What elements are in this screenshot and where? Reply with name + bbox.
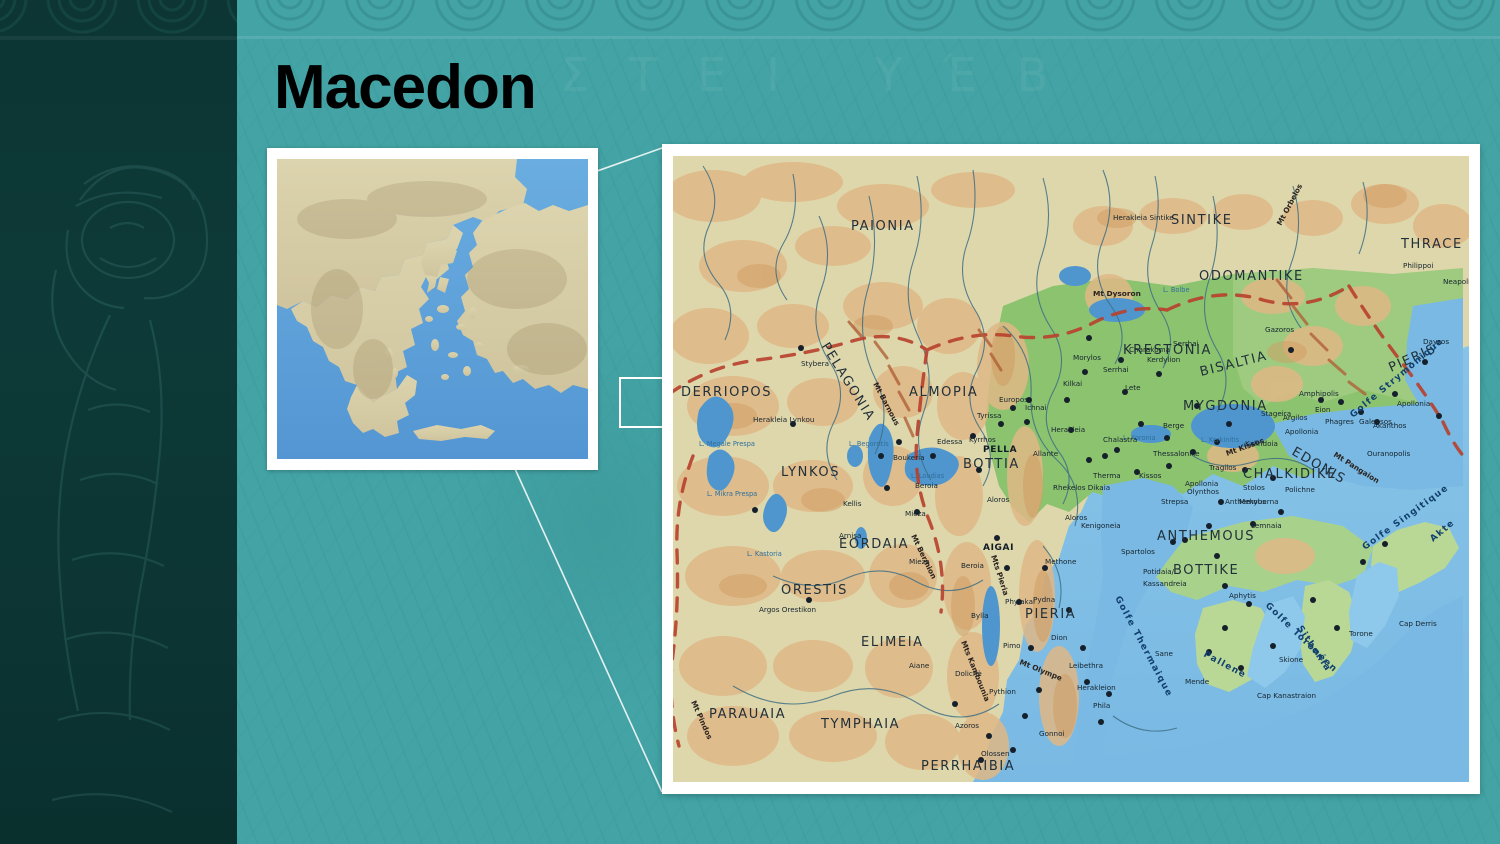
sidebar-divider-rule — [0, 36, 237, 40]
svg-text:Kalindoia: Kalindoia — [1245, 439, 1278, 448]
svg-text:Phila: Phila — [1093, 701, 1110, 710]
svg-text:Morylos: Morylos — [1073, 353, 1101, 362]
svg-text:MYGDONIA: MYGDONIA — [1183, 399, 1268, 414]
svg-text:Bylla: Bylla — [971, 611, 989, 620]
svg-text:Beroia: Beroia — [961, 561, 984, 570]
svg-text:Kilkai: Kilkai — [1063, 379, 1082, 388]
slide-canvas: ΣΤΕΙ ΥΈΒ — [0, 0, 1500, 844]
svg-text:Berge: Berge — [1163, 421, 1185, 430]
svg-text:Methone: Methone — [1045, 557, 1077, 566]
svg-text:Kenigoneia: Kenigoneia — [1081, 521, 1121, 530]
svg-text:L. Bolbe: L. Bolbe — [1163, 286, 1190, 294]
svg-text:Serrhai: Serrhai — [1103, 365, 1129, 374]
svg-text:TYMPHAIA: TYMPHAIA — [820, 717, 900, 732]
svg-text:L. Mikra Prespa: L. Mikra Prespa — [707, 490, 757, 498]
svg-text:PAIONIA: PAIONIA — [851, 219, 915, 234]
svg-text:Kerdylion: Kerdylion — [1147, 355, 1180, 364]
svg-text:Argilos: Argilos — [1283, 413, 1308, 422]
svg-text:Rhekelos Dikaia: Rhekelos Dikaia — [1053, 483, 1110, 492]
svg-text:ELIMEIA: ELIMEIA — [861, 635, 924, 650]
svg-text:Mende: Mende — [1185, 677, 1210, 686]
svg-text:Aloros: Aloros — [987, 495, 1010, 504]
svg-text:Chalastra: Chalastra — [1103, 435, 1137, 444]
svg-text:Phylakai: Phylakai — [1005, 597, 1035, 606]
svg-text:Spartolos: Spartolos — [1121, 547, 1155, 556]
svg-text:Kassandreia: Kassandreia — [1143, 579, 1187, 588]
background-greek-letters-watermark: ΣΤΕΙ ΥΈΒ — [560, 48, 1080, 118]
svg-text:Aloros: Aloros — [1065, 513, 1088, 522]
svg-text:ALMOPIA: ALMOPIA — [909, 385, 978, 400]
svg-text:Tyrissa: Tyrissa — [976, 411, 1001, 420]
svg-text:L. Kerkinitis: L. Kerkinitis — [1201, 436, 1240, 444]
svg-text:AIGAI: AIGAI — [983, 543, 1014, 553]
svg-text:Apollonia: Apollonia — [1185, 479, 1218, 488]
svg-text:Herakleion: Herakleion — [1077, 683, 1116, 692]
svg-text:THRACE: THRACE — [1400, 237, 1463, 252]
svg-text:Mt Dysoron: Mt Dysoron — [1093, 289, 1141, 298]
svg-text:Pydna: Pydna — [1033, 595, 1055, 604]
svg-text:ORESTIS: ORESTIS — [781, 583, 848, 598]
svg-text:Gonnoi: Gonnoi — [1039, 729, 1064, 738]
svg-text:PERRHAIBIA: PERRHAIBIA — [921, 759, 1015, 774]
svg-text:LYNKOS: LYNKOS — [781, 465, 840, 480]
svg-text:SINTIKE: SINTIKE — [1171, 213, 1233, 228]
svg-text:PARAUAIA: PARAUAIA — [709, 707, 786, 722]
svg-text:Galepsos: Galepsos — [1359, 417, 1392, 426]
svg-text:Stybera: Stybera — [801, 359, 829, 368]
svg-text:Leibethra: Leibethra — [1069, 661, 1103, 670]
svg-text:Edessa: Edessa — [937, 437, 962, 446]
svg-text:ANTHEMOUS: ANTHEMOUS — [1157, 529, 1255, 544]
svg-text:Therma: Therma — [1092, 471, 1121, 480]
main-map-frame[interactable]: PAIONIA PELAGONIA DERRIOPOS ALMOPIA LYNK… — [662, 144, 1480, 794]
svg-text:Pimo: Pimo — [1003, 641, 1021, 650]
svg-text:BOTTIA: BOTTIA — [963, 457, 1020, 472]
svg-text:L. Begorritis: L. Begorritis — [849, 440, 889, 448]
svg-text:Philippoi: Philippoi — [1403, 261, 1433, 270]
svg-text:Torone: Torone — [1348, 629, 1373, 638]
svg-text:Ichnai: Ichnai — [1025, 403, 1047, 412]
svg-text:PIERIA: PIERIA — [1025, 607, 1076, 622]
page-title: Macedon — [274, 52, 536, 123]
svg-text:Stolos: Stolos — [1243, 483, 1265, 492]
svg-text:Boukeria: Boukeria — [893, 453, 925, 462]
svg-text:DERRIOPOS: DERRIOPOS — [681, 385, 772, 400]
inset-map-image[interactable] — [277, 159, 588, 459]
svg-text:Lemnaia: Lemnaia — [1251, 521, 1282, 530]
svg-text:Herakleia Sintike: Herakleia Sintike — [1113, 213, 1174, 222]
svg-text:Tragilos: Tragilos — [1208, 463, 1237, 472]
svg-text:L. Loudias: L. Loudias — [911, 472, 945, 480]
svg-text:Allante: Allante — [1033, 449, 1059, 458]
svg-text:Serrhai: Serrhai — [1173, 339, 1199, 348]
svg-text:Charakoma: Charakoma — [1129, 345, 1170, 354]
svg-text:PELLA: PELLA — [983, 445, 1017, 455]
svg-text:Kyrrhos: Kyrrhos — [969, 435, 996, 444]
svg-text:Daysos: Daysos — [1423, 337, 1449, 346]
svg-text:L. Megale Prespa: L. Megale Prespa — [699, 440, 755, 448]
svg-text:Polichne: Polichne — [1285, 485, 1316, 494]
svg-text:Olossen: Olossen — [981, 749, 1010, 758]
svg-text:Mieza: Mieza — [905, 509, 926, 518]
svg-text:Phagres: Phagres — [1325, 417, 1354, 426]
svg-text:Neapolis: Neapolis — [1443, 277, 1469, 286]
svg-text:Europos: Europos — [999, 395, 1028, 404]
svg-text:Skione: Skione — [1279, 655, 1304, 664]
svg-text:Arnisa: Arnisa — [839, 531, 861, 540]
svg-text:Mieza: Mieza — [909, 557, 930, 566]
svg-text:Strepsa: Strepsa — [1161, 497, 1188, 506]
svg-text:Kellis: Kellis — [843, 499, 862, 508]
greek-figure-watermark-icon — [0, 80, 237, 840]
svg-text:Sane: Sane — [1155, 649, 1174, 658]
macedon-map-svg: PAIONIA PELAGONIA DERRIOPOS ALMOPIA LYNK… — [673, 156, 1469, 782]
svg-text:Herakleia Lynkou: Herakleia Lynkou — [753, 415, 814, 424]
svg-text:Aphytis: Aphytis — [1229, 591, 1256, 600]
svg-text:BOTTIKE: BOTTIKE — [1173, 563, 1239, 578]
svg-text:Herakleia: Herakleia — [1051, 425, 1085, 434]
svg-text:Potidaia/: Potidaia/ — [1143, 567, 1175, 576]
svg-text:Argos Orestikon: Argos Orestikon — [759, 605, 816, 614]
svg-text:Apollonia: Apollonia — [1285, 427, 1318, 436]
svg-text:Apollonia: Apollonia — [1397, 399, 1430, 408]
svg-text:Pythion: Pythion — [989, 687, 1016, 696]
svg-text:Gazoros: Gazoros — [1265, 325, 1294, 334]
svg-text:Lete: Lete — [1125, 383, 1141, 392]
svg-text:Amphipolis: Amphipolis — [1299, 389, 1339, 398]
svg-text:Dolichè: Dolichè — [955, 669, 982, 678]
svg-text:Beroia: Beroia — [915, 481, 938, 490]
svg-text:Aiane: Aiane — [909, 661, 930, 670]
svg-text:Dion: Dion — [1051, 633, 1067, 642]
svg-text:ODOMANTIKE: ODOMANTIKE — [1199, 269, 1304, 284]
svg-text:L. Kastoria: L. Kastoria — [747, 550, 782, 558]
svg-text:Ouranopolis: Ouranopolis — [1367, 449, 1410, 458]
left-decorative-sidebar — [0, 0, 237, 844]
svg-text:Azoros: Azoros — [955, 721, 979, 730]
svg-text:Mekyberna: Mekyberna — [1239, 497, 1279, 506]
svg-text:Eion: Eion — [1315, 405, 1331, 414]
svg-text:Kissos: Kissos — [1139, 471, 1162, 480]
svg-text:Cap Kanastraion: Cap Kanastraion — [1257, 691, 1316, 700]
svg-text:Cap Derris: Cap Derris — [1399, 619, 1437, 628]
inset-map-svg — [277, 159, 588, 459]
main-map-image[interactable]: PAIONIA PELAGONIA DERRIOPOS ALMOPIA LYNK… — [673, 156, 1469, 782]
svg-text:Olynthos: Olynthos — [1187, 487, 1219, 496]
svg-text:Thessalonike: Thessalonike — [1152, 449, 1200, 458]
inset-map-frame[interactable] — [267, 148, 598, 470]
